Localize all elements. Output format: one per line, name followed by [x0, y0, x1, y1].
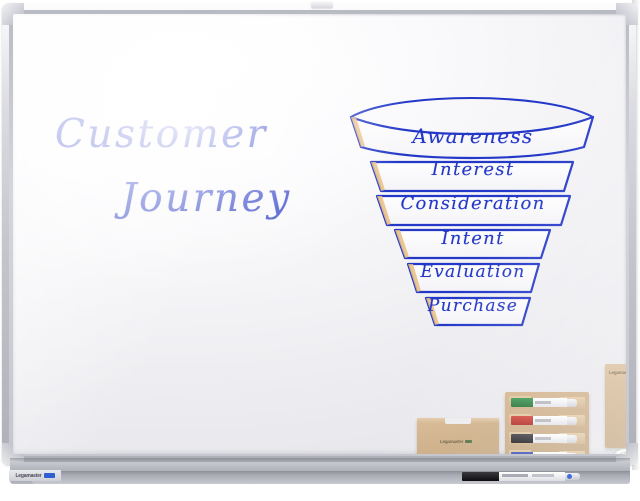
marker-set-box[interactable] [505, 392, 589, 454]
whiteboard-photo: Customer Journey [0, 0, 640, 501]
marker-slot-red[interactable] [509, 414, 585, 430]
marker-red[interactable] [511, 416, 577, 425]
eraser-notch [445, 418, 471, 424]
tray-marker-cap-icon [462, 472, 499, 481]
marker-label [535, 401, 551, 404]
board-brand-plate: Legamaster [9, 470, 61, 481]
eco-seal-ring [614, 452, 627, 455]
funnel-label-purchase: Purchase [338, 296, 608, 316]
marker-slot-black[interactable] [509, 432, 585, 448]
marker-cap-blue-icon [511, 452, 533, 454]
eraser-brand-logo: Legamaster [440, 439, 472, 444]
whiteboard-surface[interactable]: Customer Journey [13, 14, 626, 454]
sleeve-brand-text: Legamaster [609, 370, 626, 375]
marker-end [567, 417, 577, 425]
marker-cap-black-icon [511, 434, 533, 443]
funnel-rim [351, 98, 593, 117]
marker-black[interactable] [511, 434, 577, 443]
wall-mount-clip-icon [311, 1, 333, 8]
customer-journey-funnel: Awareness Interest Consideration Intent … [338, 98, 608, 338]
funnel-label-evaluation: Evaluation [338, 262, 608, 282]
tray-marker-label [502, 474, 528, 477]
marker-slot-blue[interactable] [509, 450, 585, 454]
marker-end [567, 435, 577, 443]
board-brand-text: Legamaster [15, 473, 41, 479]
eraser-brand-text: Legamaster [440, 439, 463, 444]
marker-label [535, 437, 551, 440]
marker-box-inner [509, 396, 585, 454]
tray-marker-color-dot-icon [567, 474, 572, 479]
marker-end [567, 399, 577, 407]
funnel-label-awareness: Awareness [338, 124, 608, 148]
tray-marker-label-secondary [532, 474, 554, 477]
marker-blue[interactable] [511, 452, 577, 454]
board-eraser[interactable]: Legamaster [417, 418, 499, 454]
cardboard-sleeve[interactable]: Legamaster [605, 364, 626, 448]
marker-green[interactable] [511, 398, 577, 407]
handwritten-title-line-1: Customer [55, 112, 268, 157]
eraser-brand-mark-icon [465, 440, 472, 444]
funnel-label-intent: Intent [338, 228, 608, 249]
marker-end [567, 453, 577, 455]
tray-marker-black[interactable] [462, 472, 580, 481]
handwritten-title-line-2: Journey [121, 176, 292, 221]
marker-cap-red-icon [511, 416, 533, 425]
marker-slot-green[interactable] [509, 396, 585, 412]
funnel-label-consideration: Consideration [338, 193, 608, 214]
eco-certification-seal-icon [610, 448, 626, 454]
marker-label [535, 419, 551, 422]
sleeve-brand-logo: Legamaster [609, 370, 626, 375]
marker-cap-green-icon [511, 398, 533, 407]
funnel-label-interest: Interest [338, 159, 608, 180]
board-brand-mark-icon [44, 473, 55, 478]
